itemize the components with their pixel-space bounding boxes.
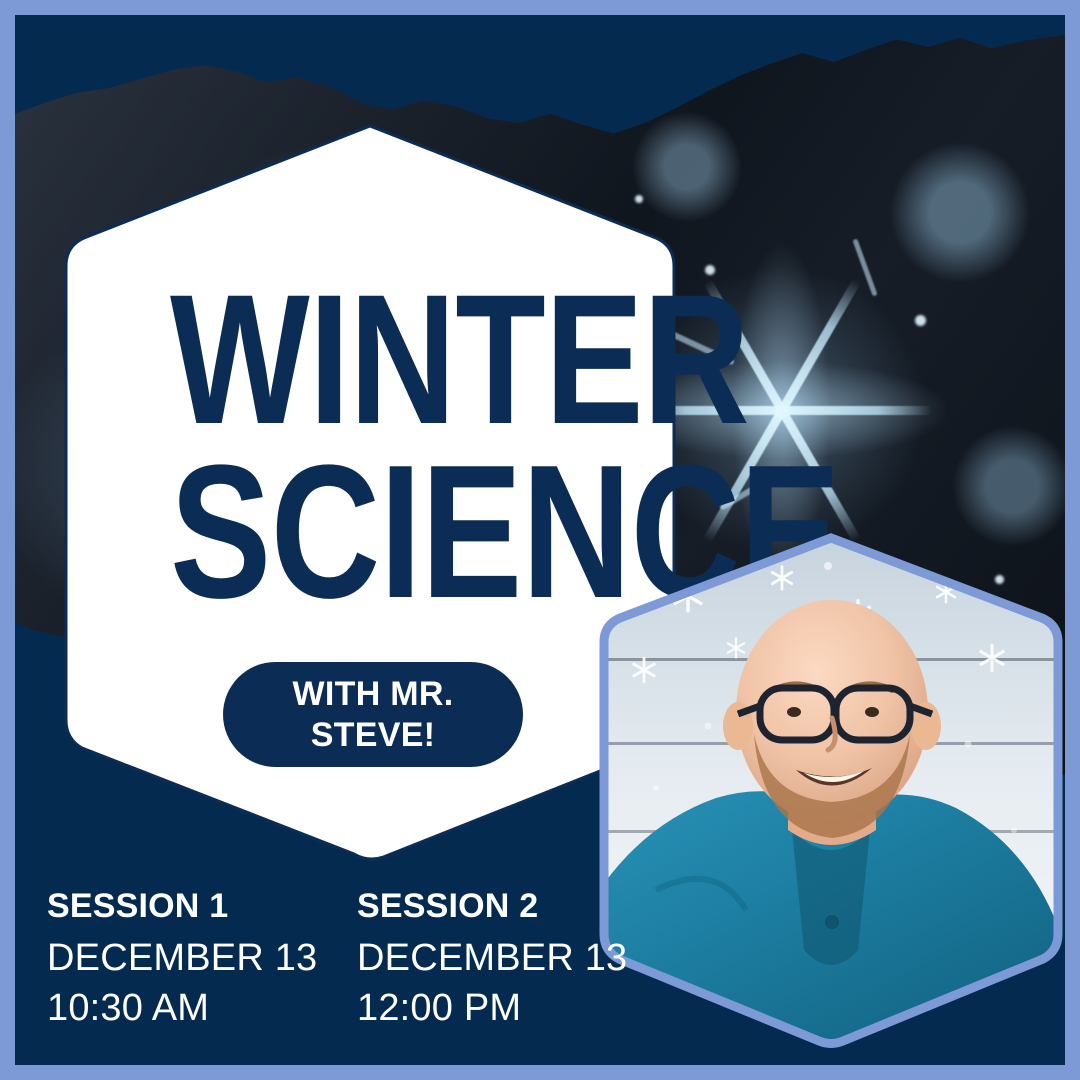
session-1-label: SESSION 1 [47,887,297,926]
ice-sparkle [775,405,789,419]
presenter-badge: WITH MR.STEVE! [223,662,523,767]
session-2: SESSION 2 DECEMBER 13 12:00 PM [357,887,607,1033]
page-title: WINTER SCIENCE [120,275,620,620]
ice-sparkle [915,315,926,326]
title-line-2: SCIENCE [170,445,570,620]
session-1: SESSION 1 DECEMBER 13 10:30 AM [47,887,297,1033]
session-1-time: 10:30 AM [47,984,297,1033]
session-2-label: SESSION 2 [357,887,607,926]
title-hexagon-card: WINTER SCIENCE WITH MR.STEVE! [60,120,680,865]
presenter-badge-line-2: STEVE! [311,716,436,754]
presenter-badge-line-1: WITH MR. [292,675,453,713]
session-list: SESSION 1 DECEMBER 13 10:30 AM SESSION 2… [47,887,607,1033]
session-2-time: 12:00 PM [357,984,607,1033]
presenter-photo-hexagon [596,530,1065,1050]
session-2-date: DECEMBER 13 [357,934,607,983]
winter-science-flyer: WINTER SCIENCE WITH MR.STEVE! [0,0,1080,1080]
title-line-1: WINTER [170,275,570,445]
session-1-date: DECEMBER 13 [47,934,297,983]
flyer-canvas: WINTER SCIENCE WITH MR.STEVE! [15,15,1065,1065]
presenter-badge-label: WITH MR.STEVE! [292,674,453,754]
